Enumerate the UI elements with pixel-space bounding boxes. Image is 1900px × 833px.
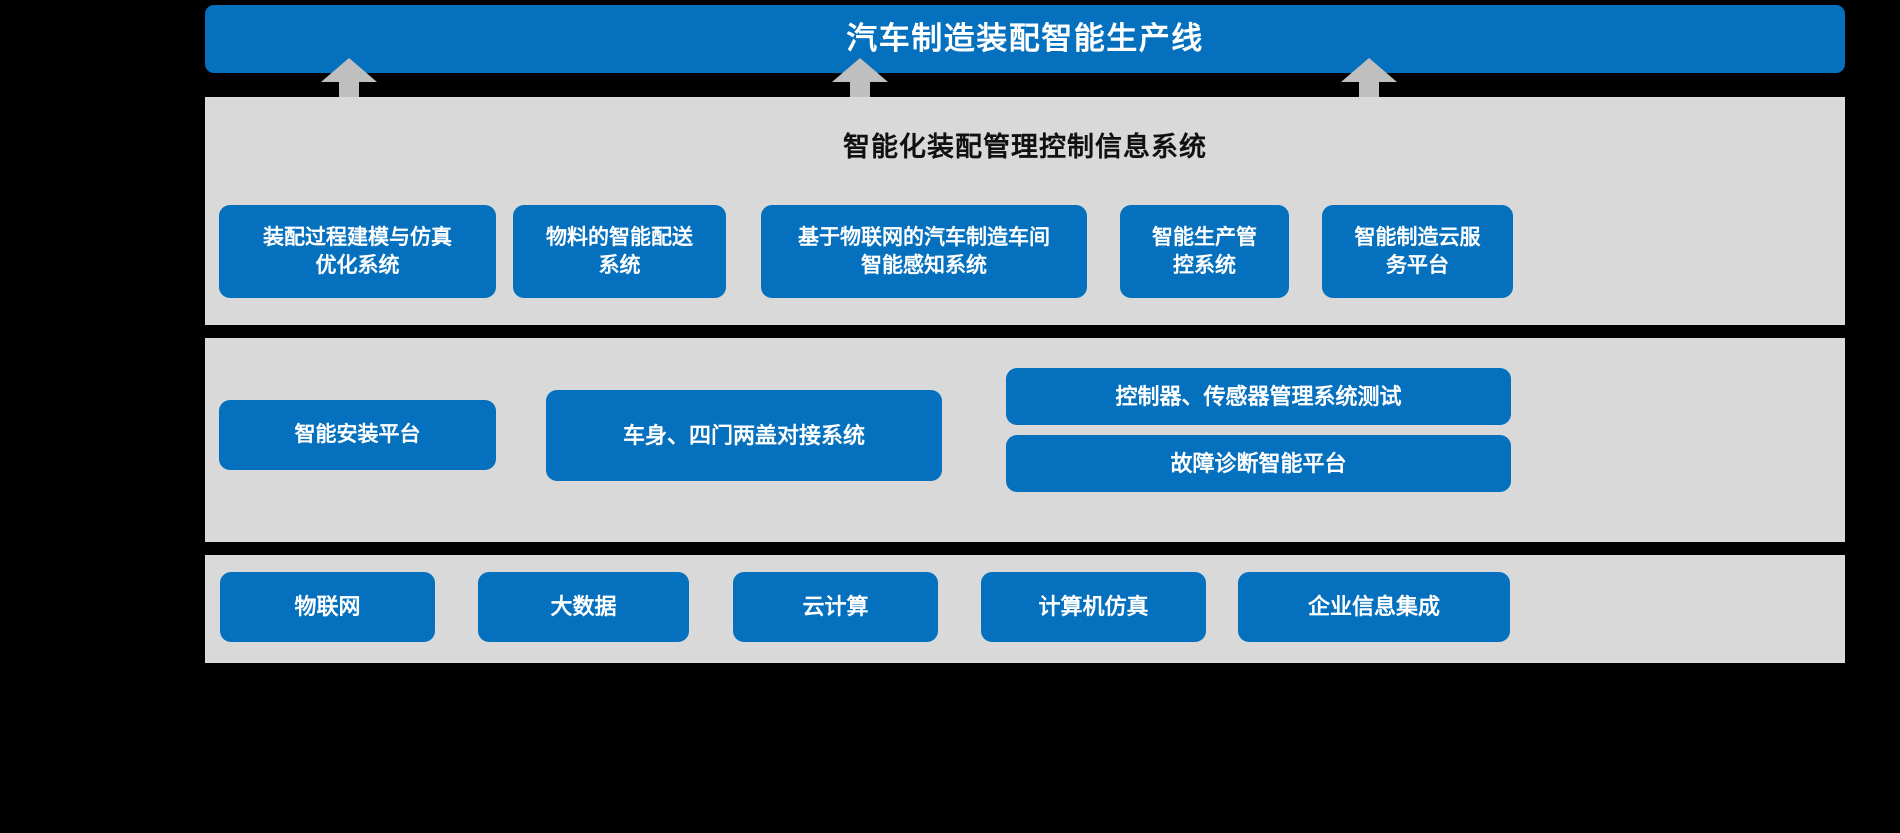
technology-box-enterprise-information-integration[interactable]: 企业信息集成 (1238, 572, 1510, 642)
box-line-2: 控系统 (1152, 252, 1257, 280)
box-label: 大数据 (550, 592, 616, 621)
platform-box-body-door-hood-docking-system[interactable]: 车身、四门两盖对接系统 (546, 390, 942, 481)
box-line-2: 优化系统 (263, 252, 452, 280)
box-label: 智能安装平台 (295, 421, 421, 449)
management-box-iot-workshop-sensing[interactable]: 基于物联网的汽车制造车间 智能感知系统 (761, 205, 1087, 298)
arrow-head (321, 58, 377, 82)
platform-box-smart-installation-platform[interactable]: 智能安装平台 (219, 400, 496, 470)
production-line-banner: 汽车制造装配智能生产线 (205, 5, 1845, 73)
management-section-title: 智能化装配管理控制信息系统 (205, 125, 1845, 164)
box-line-1: 基于物联网的汽车制造车间 (798, 224, 1050, 252)
box-label: 企业信息集成 (1308, 592, 1440, 621)
base-technology-panel: 物联网 大数据 云计算 计算机仿真 企业信息集成 (205, 555, 1845, 663)
management-box-smart-manufacturing-cloud[interactable]: 智能制造云服 务平台 (1322, 205, 1513, 298)
box-line-1: 物料的智能配送 (546, 224, 693, 252)
box-line-2: 智能感知系统 (798, 252, 1050, 280)
platform-systems-panel: 智能安装平台 车身、四门两盖对接系统 控制器、传感器管理系统测试 故障诊断智能平… (205, 338, 1845, 542)
technology-box-iot[interactable]: 物联网 (220, 572, 435, 642)
technology-box-computer-simulation[interactable]: 计算机仿真 (981, 572, 1206, 642)
box-line-1: 装配过程建模与仿真 (263, 224, 452, 252)
box-line-1: 智能制造云服 (1355, 224, 1481, 252)
management-box-assembly-modeling-simulation[interactable]: 装配过程建模与仿真 优化系统 (219, 205, 496, 298)
box-line-1: 智能生产管 (1152, 224, 1257, 252)
box-label: 控制器、传感器管理系统测试 (1115, 382, 1401, 411)
technology-box-cloud-computing[interactable]: 云计算 (733, 572, 938, 642)
box-line-2: 务平台 (1355, 252, 1481, 280)
technology-box-big-data[interactable]: 大数据 (478, 572, 689, 642)
box-label: 物联网 (294, 592, 360, 621)
arrow-head (832, 58, 888, 82)
box-label: 计算机仿真 (1038, 592, 1148, 621)
box-label: 云计算 (802, 592, 868, 621)
management-box-material-smart-delivery[interactable]: 物料的智能配送 系统 (513, 205, 726, 298)
box-label: 车身、四门两盖对接系统 (623, 421, 865, 450)
management-information-system-panel: 智能化装配管理控制信息系统 装配过程建模与仿真 优化系统 物料的智能配送 系统 … (205, 97, 1845, 325)
platform-box-controller-sensor-management-test[interactable]: 控制器、传感器管理系统测试 (1006, 368, 1511, 425)
management-box-smart-production-control[interactable]: 智能生产管 控系统 (1120, 205, 1289, 298)
box-line-2: 系统 (546, 252, 693, 280)
banner-title: 汽车制造装配智能生产线 (846, 22, 1204, 56)
diagram-canvas: 汽车制造装配智能生产线 智能化装配管理控制信息系统 装配过程建模与仿真 优化系统… (0, 0, 1900, 833)
box-label: 故障诊断智能平台 (1170, 449, 1346, 478)
platform-box-fault-diagnosis-smart-platform[interactable]: 故障诊断智能平台 (1006, 435, 1511, 492)
arrow-head (1341, 58, 1397, 82)
